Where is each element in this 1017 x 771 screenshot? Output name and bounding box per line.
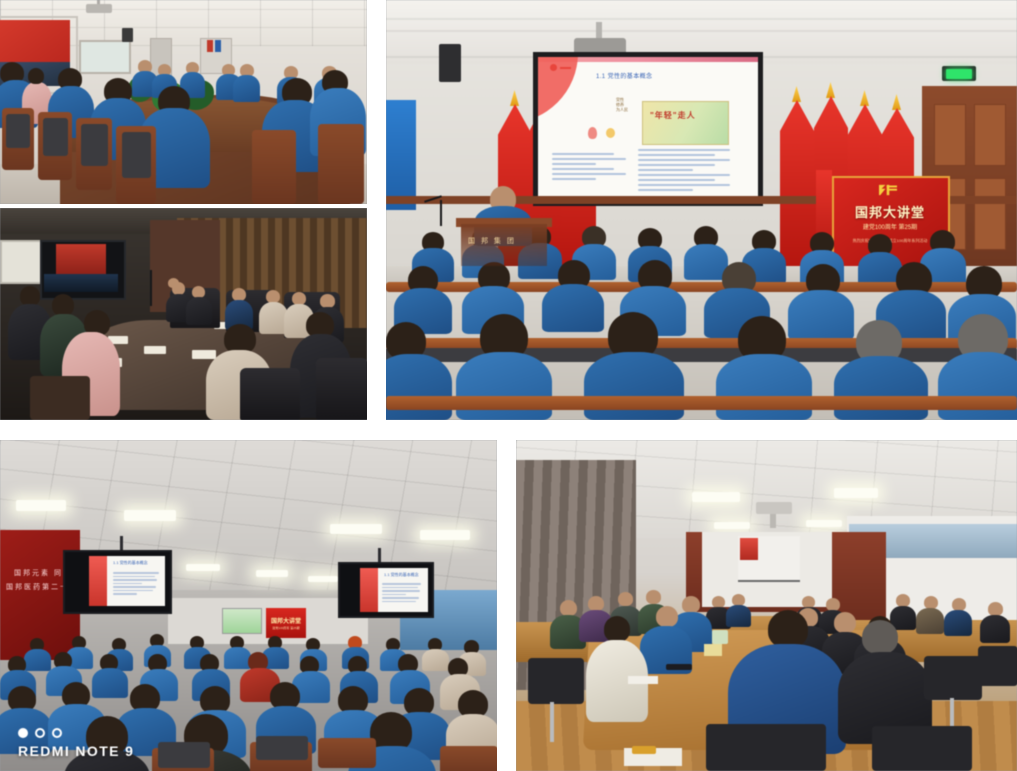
office-chair bbox=[924, 656, 982, 700]
presentation-slide: 1.1 党性的基本概念 党性 修养 为人民 "年轻"走人 bbox=[538, 57, 758, 201]
flag-tip bbox=[892, 94, 901, 110]
chair bbox=[318, 124, 364, 204]
office-chair bbox=[706, 724, 826, 771]
person-head bbox=[618, 592, 633, 606]
slide-decoration bbox=[606, 128, 615, 138]
slide-title: 1.1 党性的基本概念 bbox=[113, 560, 148, 566]
person-head bbox=[28, 68, 44, 84]
speaker-icon bbox=[439, 44, 461, 82]
slide-title: 1.1 党性的基本概念 bbox=[596, 71, 652, 80]
ceiling-light bbox=[834, 488, 878, 498]
screen-slide: 1.1 党性的基本概念 bbox=[360, 568, 428, 612]
paper bbox=[628, 676, 658, 684]
page-dot[interactable] bbox=[35, 728, 45, 738]
ceiling-molding bbox=[386, 30, 1017, 32]
person-head bbox=[560, 600, 577, 616]
slide-accent-shape bbox=[538, 57, 578, 123]
person-head bbox=[646, 590, 661, 604]
person-body bbox=[92, 668, 128, 698]
slide-text-right bbox=[638, 149, 730, 197]
chair-post bbox=[550, 702, 554, 742]
chair-back bbox=[158, 742, 210, 768]
display-slide bbox=[56, 244, 106, 274]
box bbox=[704, 644, 722, 656]
person-head bbox=[834, 612, 856, 633]
slide-vertical-text: 党性 修养 为人民 bbox=[616, 97, 628, 131]
folder bbox=[632, 746, 656, 754]
bench bbox=[386, 396, 1017, 410]
chair-back bbox=[256, 736, 308, 760]
paper bbox=[144, 346, 166, 354]
slide-accent bbox=[360, 568, 378, 612]
sofa bbox=[240, 368, 300, 420]
phone bbox=[666, 664, 692, 670]
slide-logo-bar bbox=[560, 67, 571, 69]
chair bbox=[318, 738, 376, 768]
person-body bbox=[224, 647, 251, 669]
person-body bbox=[726, 605, 751, 627]
ceiling-light bbox=[692, 492, 740, 502]
watermark-brand: REDMI NOTE 9 bbox=[18, 743, 134, 759]
chair-back bbox=[81, 124, 108, 166]
person-head bbox=[20, 286, 40, 306]
ceiling-light bbox=[420, 530, 470, 540]
ceiling-light bbox=[714, 522, 750, 529]
person-head bbox=[588, 596, 604, 611]
cup bbox=[712, 630, 728, 644]
ceiling-light bbox=[124, 510, 176, 521]
person-body bbox=[834, 356, 928, 420]
person-head bbox=[862, 620, 898, 654]
person-body bbox=[233, 75, 260, 102]
camera-watermark: REDMI NOTE 9 bbox=[18, 728, 134, 759]
photo-collage: 1.1 党性的基本概念 党性 修养 为人民 "年轻"走人 bbox=[0, 0, 1017, 771]
slide-logo-icon bbox=[550, 64, 557, 71]
person-head bbox=[682, 596, 700, 613]
ceiling-light bbox=[256, 570, 288, 577]
person-head bbox=[768, 610, 808, 648]
person-head bbox=[656, 606, 678, 627]
office-chair bbox=[978, 646, 1017, 686]
slide-accent bbox=[89, 556, 107, 606]
person-body bbox=[944, 610, 972, 636]
person-body bbox=[542, 284, 604, 332]
person-body bbox=[386, 354, 452, 420]
office-chair bbox=[872, 726, 972, 771]
photo-bottom-left[interactable]: 国邦元素 同心 国邦医药第二十届干部 1.1 党性的基本概念 bbox=[0, 440, 497, 771]
page-dots bbox=[18, 728, 134, 738]
person-body bbox=[716, 354, 812, 420]
whiteboard bbox=[79, 40, 131, 74]
slide-image-card bbox=[642, 101, 729, 145]
person-body bbox=[422, 649, 449, 671]
person-body bbox=[980, 615, 1010, 643]
chair-back bbox=[43, 118, 68, 156]
slide-accent bbox=[740, 538, 758, 560]
person-head bbox=[320, 294, 335, 308]
camera-tripod bbox=[150, 270, 152, 306]
sofa bbox=[316, 358, 367, 420]
ceiling-light bbox=[806, 520, 842, 527]
person-head bbox=[52, 294, 74, 316]
person-head bbox=[988, 602, 1003, 616]
projector-rod bbox=[770, 514, 776, 528]
chair bbox=[30, 376, 90, 420]
person-body bbox=[916, 608, 944, 634]
hanging-screen-right[interactable]: 1.1 党性的基本概念 bbox=[338, 562, 434, 618]
person-body bbox=[186, 297, 212, 325]
podium-text: 国 邦 集 团 bbox=[468, 236, 516, 246]
person-head bbox=[604, 616, 630, 642]
speaker-icon bbox=[122, 28, 133, 42]
display-slide-lower bbox=[44, 274, 118, 292]
chair-back bbox=[122, 132, 151, 178]
ceiling-light bbox=[186, 564, 220, 571]
projector-icon bbox=[756, 502, 792, 514]
screen-slide: 1.1 党性的基本概念 bbox=[89, 556, 165, 606]
office-chair bbox=[528, 658, 584, 704]
ceiling-molding bbox=[386, 18, 1017, 20]
ceiling-light bbox=[330, 524, 382, 534]
far-banner-title: 国邦大讲堂 bbox=[267, 616, 305, 625]
projector-icon bbox=[86, 4, 112, 13]
ceiling-light bbox=[308, 576, 338, 582]
page-dot-active[interactable] bbox=[18, 728, 28, 738]
cabinet-red-marker bbox=[207, 40, 213, 52]
chair bbox=[252, 130, 296, 204]
ceiling-light bbox=[16, 500, 66, 511]
photo-top-left[interactable] bbox=[0, 0, 367, 204]
exit-sign-icon bbox=[942, 66, 976, 81]
photo-main-lecture[interactable]: 1.1 党性的基本概念 党性 修养 为人民 "年轻"走人 bbox=[386, 0, 1017, 420]
person-body bbox=[788, 290, 854, 340]
person-head bbox=[168, 278, 179, 288]
slide-title: 1.1 党性的基本概念 bbox=[384, 572, 419, 578]
slide-text-left bbox=[552, 153, 626, 193]
chair bbox=[440, 746, 497, 771]
cabinet-blue-marker bbox=[215, 40, 221, 52]
hanging-screen-left[interactable]: 1.1 党性的基本概念 bbox=[63, 550, 172, 614]
paper bbox=[192, 350, 216, 359]
photo-bottom-right[interactable] bbox=[516, 440, 1017, 771]
page-dot[interactable] bbox=[52, 728, 62, 738]
slide-decoration bbox=[588, 127, 597, 139]
chair-back bbox=[6, 114, 30, 148]
photo-mid-left[interactable] bbox=[0, 208, 367, 420]
projection-screen: 1.1 党性的基本概念 党性 修养 为人民 "年轻"走人 bbox=[533, 52, 763, 206]
slide-card-text: "年轻"走人 bbox=[650, 110, 696, 121]
person-body bbox=[24, 649, 51, 671]
